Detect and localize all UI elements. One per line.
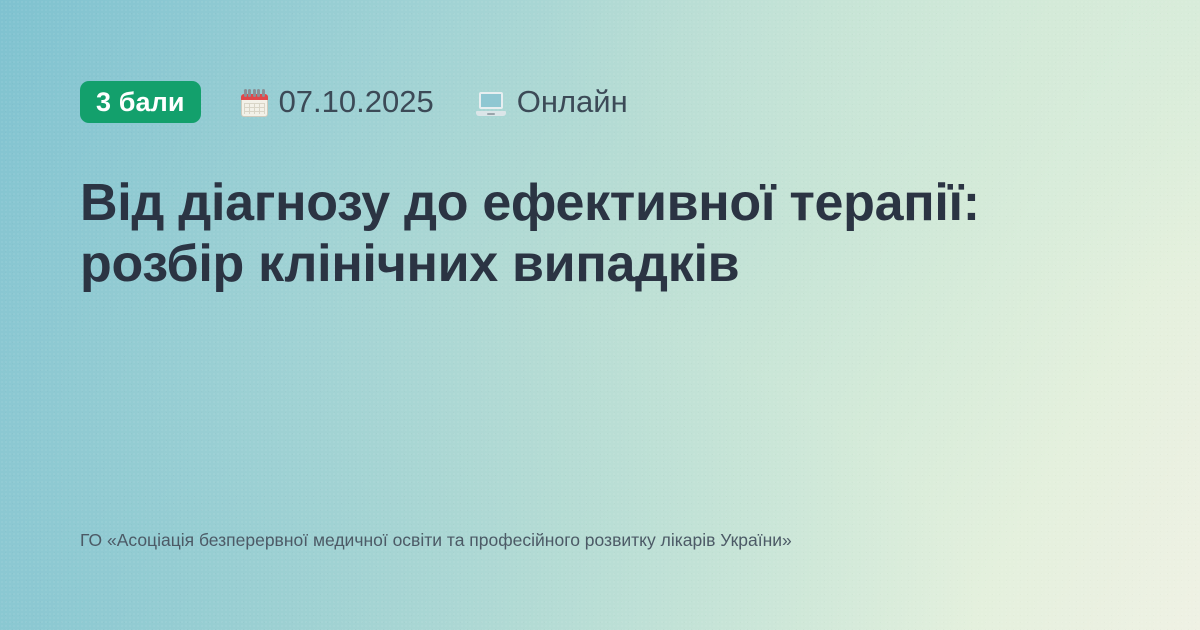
event-date: 07.10.2025 — [241, 84, 434, 120]
meta-row: 3 бали 07.10.2025 Онлайн — [80, 78, 1120, 126]
points-badge: 3 бали — [80, 81, 201, 123]
event-title: Від діагнозу до ефективної терапії: розб… — [80, 173, 1080, 295]
event-title-line-2: розбір клінічних випадків — [80, 235, 739, 293]
card-content: 3 бали 07.10.2025 Онлайн — [0, 0, 1200, 630]
calendar-icon — [241, 89, 268, 117]
organizer-name: ГО «Асоціація безперервної медичної осві… — [80, 527, 1010, 554]
event-format: Онлайн — [476, 84, 628, 120]
event-title-line-1: Від діагнозу до ефективної терапії: — [80, 174, 980, 232]
laptop-icon — [476, 92, 506, 116]
event-date-value: 07.10.2025 — [279, 84, 434, 120]
event-format-value: Онлайн — [517, 84, 628, 120]
event-card: 3 бали 07.10.2025 Онлайн — [0, 0, 1200, 630]
